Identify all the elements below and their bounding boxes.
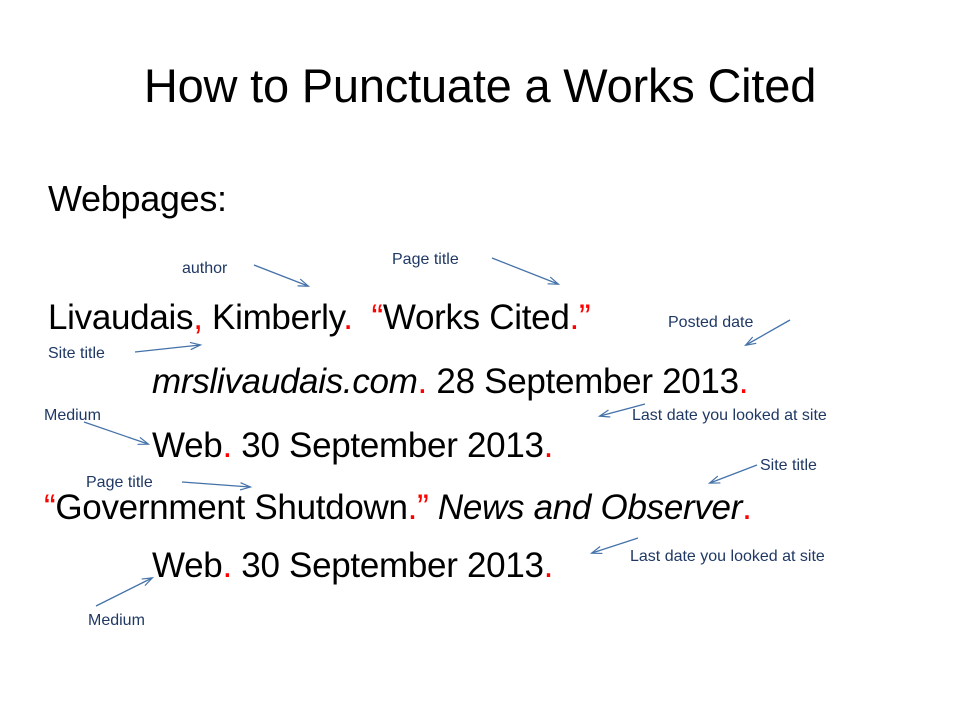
section-label-webpages: Webpages:	[48, 178, 227, 220]
annotation-page-title-1: Page title	[392, 249, 459, 271]
citation-1-access-date: 30 September 2013	[232, 426, 544, 465]
citation-1-period-6: .	[544, 426, 553, 465]
citation-2-site-title: News and Observer	[428, 488, 742, 527]
citation-1-period-2: .	[570, 298, 579, 337]
citation-2-medium: Web	[152, 546, 222, 585]
citation-2-page-title: Government Shutdown	[55, 488, 407, 527]
annotation-author: author	[182, 258, 227, 280]
arrow-author	[254, 265, 308, 286]
arrow-page-title-1	[492, 258, 558, 284]
citation-1-line-3: Web. 30 September 2013.	[152, 426, 553, 466]
annotation-last-date-2: Last date you looked at site	[630, 546, 840, 568]
citation-2-line-2: Web. 30 September 2013.	[152, 546, 553, 586]
citation-2-period-2: .	[742, 488, 751, 527]
arrow-medium-2	[96, 578, 152, 606]
annotation-medium-2: Medium	[88, 610, 145, 632]
citation-2-period-4: .	[544, 546, 553, 585]
arrow-page-title-2	[182, 482, 250, 487]
citation-1-author-first: Kimberly	[203, 298, 344, 337]
citation-1-line-2: mrslivaudais.com. 28 September 2013.	[152, 362, 748, 402]
annotation-medium-1: Medium	[44, 405, 101, 427]
citation-2-quote-open: “	[44, 488, 55, 527]
citation-1-site-title: mrslivaudais.com	[152, 362, 418, 401]
citation-1-period-4: .	[739, 362, 748, 401]
citation-1-author-last: Livaudais	[48, 298, 193, 337]
citation-1-period-1: .	[343, 298, 352, 337]
citation-1-quote-close: ”	[579, 298, 590, 337]
annotation-last-date-1: Last date you looked at site	[632, 405, 842, 427]
arrow-site-title-2	[710, 465, 757, 483]
citation-2-quote-close: ”	[417, 488, 428, 527]
citation-1-quote-open: “	[372, 298, 383, 337]
slide-canvas: How to Punctuate a Works Cited Webpages:…	[0, 0, 960, 720]
citation-1-posted-date: 28 September 2013	[427, 362, 739, 401]
citation-2-line-1: “Government Shutdown.” News and Observer…	[44, 488, 752, 528]
annotation-posted-date: Posted date	[668, 312, 753, 334]
arrow-site-title-1	[135, 345, 200, 352]
citation-1-medium: Web	[152, 426, 222, 465]
page-title: How to Punctuate a Works Cited	[0, 58, 960, 113]
annotation-site-title-2: Site title	[760, 455, 817, 477]
citation-1-page-title: Works Cited	[383, 298, 570, 337]
citation-2-period-1: .	[408, 488, 417, 527]
citation-2-access-date: 30 September 2013	[232, 546, 544, 585]
citation-1-period-3: .	[418, 362, 427, 401]
annotation-site-title-1: Site title	[48, 343, 105, 365]
citation-1-period-5: .	[222, 426, 231, 465]
citation-1-comma: ,	[193, 298, 202, 337]
citation-2-period-3: .	[222, 546, 231, 585]
annotation-page-title-2: Page title	[86, 472, 153, 494]
citation-1-line-1: Livaudais, Kimberly. “Works Cited.”	[48, 298, 590, 338]
